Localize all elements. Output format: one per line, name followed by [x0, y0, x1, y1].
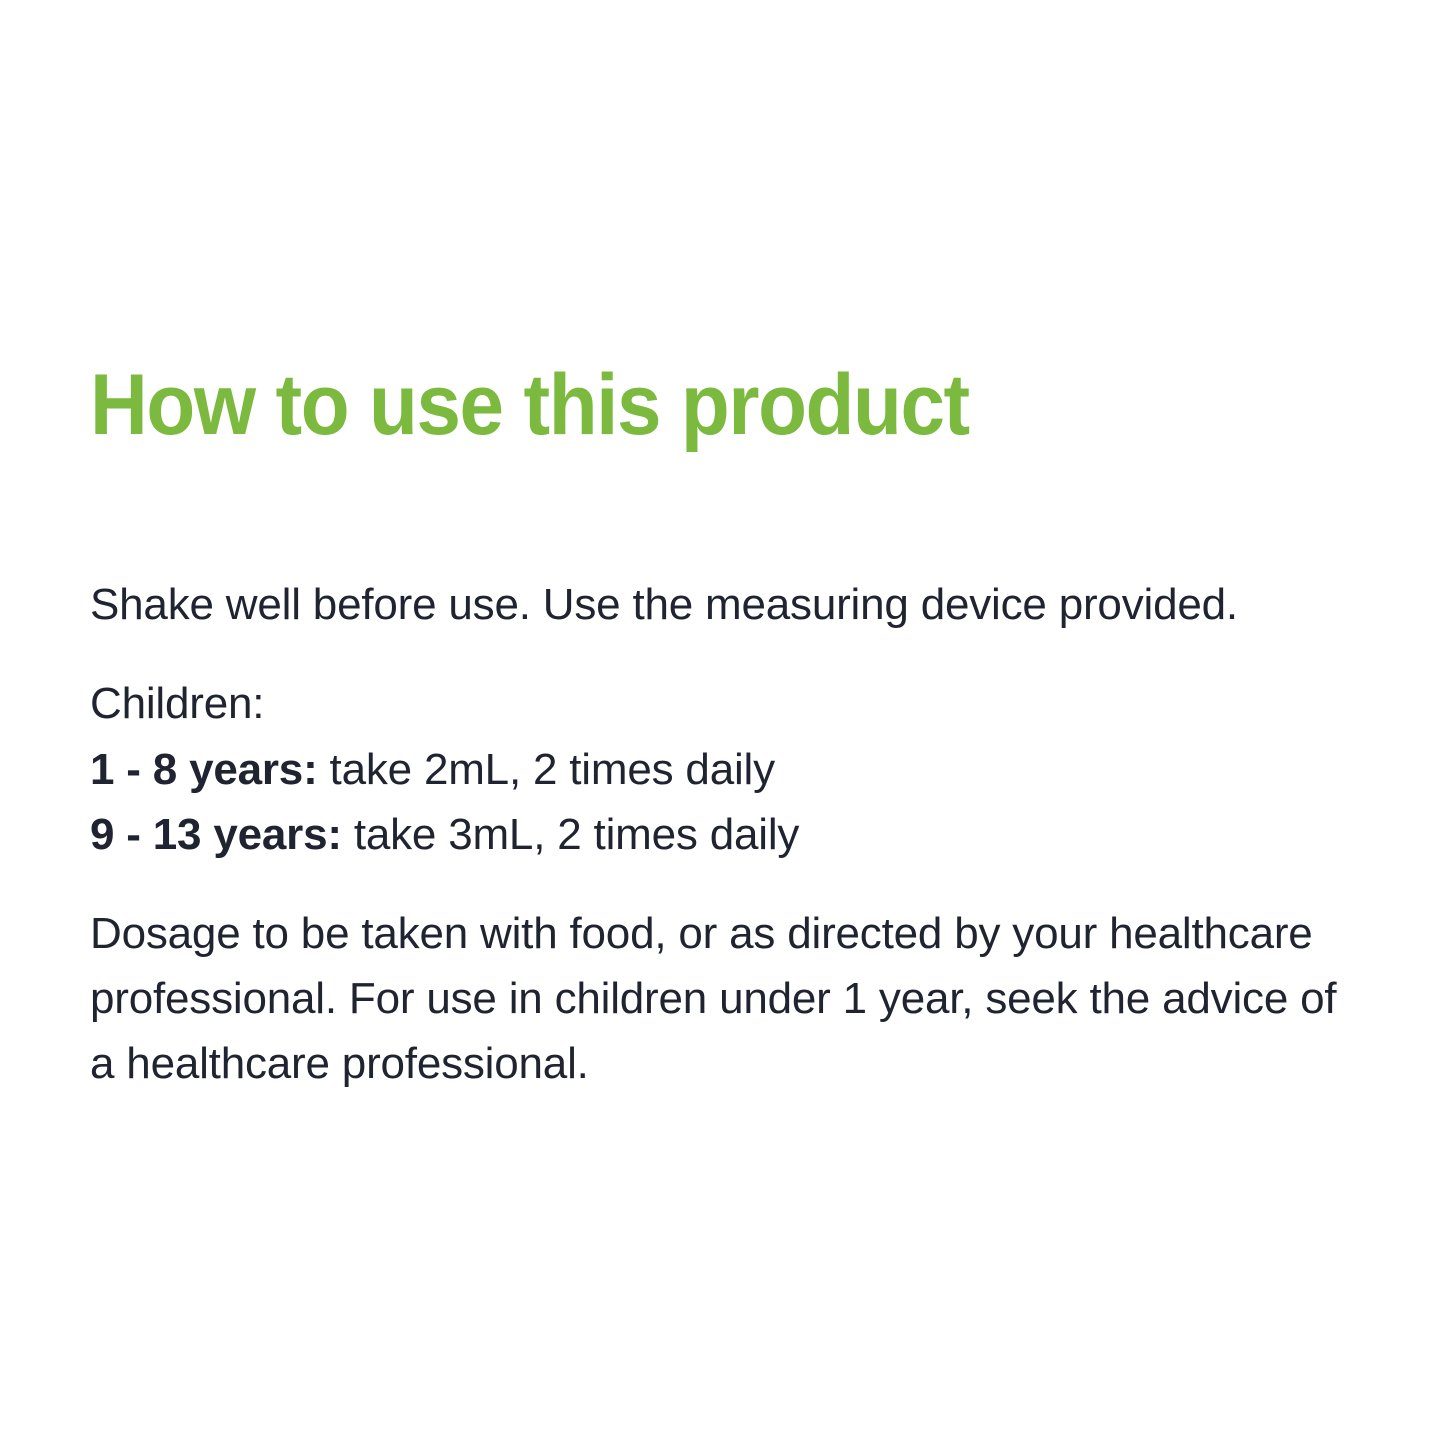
content-container: How to use this product Shake well befor… — [90, 360, 1370, 1096]
dosage-row-9-13-years: 9 - 13 years: take 3mL, 2 times daily — [90, 802, 1370, 867]
page-title: How to use this product — [90, 360, 1280, 450]
children-dosage-group: Children: 1 - 8 years: take 2mL, 2 times… — [90, 671, 1370, 866]
children-group-label: Children: — [90, 671, 1370, 736]
instructions-body: Shake well before use. Use the measuring… — [90, 572, 1370, 1096]
product-usage-page: How to use this product Shake well befor… — [0, 0, 1445, 1445]
footer-advice-text: Dosage to be taken with food, or as dire… — [90, 901, 1360, 1096]
intro-instruction-text: Shake well before use. Use the measuring… — [90, 572, 1370, 637]
dosage-instruction-9-13: take 3mL, 2 times daily — [342, 810, 799, 859]
dosage-row-1-8-years: 1 - 8 years: take 2mL, 2 times daily — [90, 737, 1370, 802]
dosage-age-range-9-13: 9 - 13 years: — [90, 810, 342, 859]
dosage-instruction-1-8: take 2mL, 2 times daily — [318, 745, 775, 794]
dosage-age-range-1-8: 1 - 8 years: — [90, 745, 318, 794]
